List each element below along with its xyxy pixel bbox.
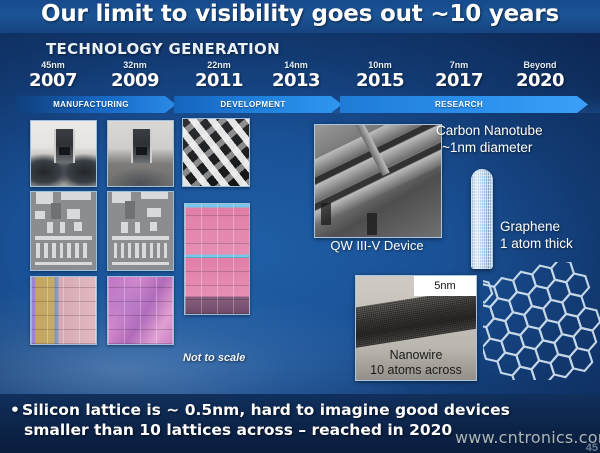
device-contact bbox=[367, 213, 377, 235]
stack-block bbox=[74, 222, 82, 231]
stack-block bbox=[35, 211, 45, 219]
watermark: www.cntronics.com bbox=[455, 428, 600, 447]
page-title: Our limit to visibility goes out ~10 yea… bbox=[0, 1, 600, 27]
stack-finger bbox=[164, 243, 167, 257]
phase-chevron-development: DEVELOPMENT bbox=[174, 96, 342, 113]
node-year-0: 2007 bbox=[14, 71, 92, 91]
timeline-node-0: 45nm 2007 bbox=[14, 60, 92, 91]
stack-finger bbox=[44, 243, 48, 257]
stack-block bbox=[141, 192, 168, 199]
timeline-node-2: 22nm 2011 bbox=[180, 60, 258, 91]
node-year-4: 2015 bbox=[341, 71, 419, 91]
node-year-5: 2017 bbox=[420, 71, 498, 91]
device-contact bbox=[321, 203, 331, 225]
footer-bullet-line1: Silicon lattice is ~ 0.5nm, hard to imag… bbox=[22, 401, 510, 419]
timeline-node-1: 32nm 2009 bbox=[96, 60, 174, 91]
nanowire-caption-line1: Nanowire bbox=[356, 348, 476, 363]
stack-finger bbox=[83, 243, 87, 257]
tile-tem-gate-32nm bbox=[107, 120, 174, 187]
stack-finger bbox=[114, 243, 117, 257]
section-label: TECHNOLOGY GENERATION bbox=[46, 40, 280, 58]
stack-finger bbox=[67, 243, 71, 257]
graphene-lattice-graphic bbox=[483, 262, 600, 380]
phase-band: MANUFACTURING DEVELOPMENT RESEARCH bbox=[0, 96, 600, 113]
timeline-node-4: 10nm 2015 bbox=[341, 60, 419, 91]
stack-via bbox=[125, 201, 135, 218]
node-year-6: 2020 bbox=[501, 71, 579, 91]
stack-via bbox=[51, 203, 61, 219]
hexagon-lattice-svg bbox=[483, 262, 600, 380]
scale-bar-badge: 5nm bbox=[414, 276, 476, 296]
not-to-scale-note: Not to scale bbox=[183, 352, 245, 364]
stack-rail bbox=[35, 262, 92, 265]
carbon-nanotube-graphic bbox=[471, 169, 493, 269]
phase-chevron-research: RESEARCH bbox=[340, 96, 588, 113]
stack-block bbox=[121, 222, 128, 233]
stack-finger bbox=[52, 243, 56, 257]
stack-rail bbox=[35, 236, 92, 240]
nanowire-caption: Nanowire 10 atoms across bbox=[356, 348, 476, 378]
tile-die-micrograph-45nm bbox=[30, 276, 97, 345]
stack-finger bbox=[157, 243, 160, 257]
graphene-label-line2: 1 atom thick bbox=[500, 235, 600, 252]
timeline-node-5: 7nm 2017 bbox=[420, 60, 498, 91]
stack-block bbox=[67, 209, 80, 218]
timeline-node-6: Beyond 2020 bbox=[501, 60, 579, 91]
phase-label-development: DEVELOPMENT bbox=[220, 100, 285, 109]
stack-block bbox=[60, 222, 65, 233]
die-grid-overlay bbox=[185, 204, 249, 314]
tile-metal-stack-45nm bbox=[30, 191, 97, 271]
stack-finger bbox=[142, 243, 145, 257]
carbon-nanotube-label: Carbon Nanotube ~1nm diameter bbox=[436, 122, 600, 156]
gate-stack-shape bbox=[54, 129, 75, 163]
stack-finger bbox=[121, 243, 124, 257]
qw-device-image bbox=[314, 124, 442, 238]
tile-die-shot-22nm bbox=[184, 203, 250, 315]
stack-block bbox=[147, 208, 161, 217]
tile-die-micrograph-32nm bbox=[107, 276, 174, 345]
node-year-2: 2011 bbox=[180, 71, 258, 91]
tile-tem-gate-45nm bbox=[30, 120, 97, 187]
stack-finger bbox=[75, 243, 79, 257]
die-grid-overlay bbox=[31, 277, 96, 344]
graphene-label: Graphene 1 atom thick bbox=[500, 218, 600, 252]
left-image-grid bbox=[0, 118, 300, 358]
timeline-node-3: 14nm 2013 bbox=[257, 60, 335, 91]
nanowire-strand bbox=[355, 288, 477, 348]
stack-block bbox=[61, 192, 91, 200]
node-year-3: 2013 bbox=[257, 71, 335, 91]
die-grid-overlay bbox=[108, 277, 173, 344]
nanowire-image: 5nm Nanowire 10 atoms across bbox=[355, 275, 477, 381]
stack-finger bbox=[128, 243, 131, 257]
cnt-label-line2: ~1nm diameter bbox=[442, 139, 600, 156]
gate-stack-shape bbox=[131, 129, 152, 163]
phase-chevron-manufacturing: MANUFACTURING bbox=[16, 96, 176, 113]
slide-canvas: Our limit to visibility goes out ~10 yea… bbox=[0, 0, 600, 453]
stack-finger bbox=[135, 243, 138, 257]
tile-metal-stack-32nm bbox=[107, 191, 174, 271]
stack-rail bbox=[112, 262, 169, 265]
phase-label-manufacturing: MANUFACTURING bbox=[53, 100, 129, 109]
bullet-marker: • bbox=[10, 400, 22, 420]
timeline-nodes: 45nm 2007 32nm 2009 22nm 2011 14nm 2013 … bbox=[14, 60, 586, 94]
graphene-label-line1: Graphene bbox=[500, 218, 600, 235]
nanowire-caption-line2: 10 atoms across bbox=[356, 363, 476, 378]
stack-finger bbox=[150, 243, 153, 257]
stack-finger bbox=[60, 243, 64, 257]
tile-sem-finfet-22nm bbox=[182, 118, 250, 187]
page-number: 45 bbox=[586, 442, 598, 453]
cnt-label-line1: Carbon Nanotube bbox=[436, 122, 600, 139]
phase-label-research: RESEARCH bbox=[435, 100, 483, 109]
node-year-1: 2009 bbox=[96, 71, 174, 91]
stack-block bbox=[150, 222, 158, 231]
stack-finger bbox=[36, 243, 40, 257]
stack-block bbox=[47, 222, 54, 233]
stack-block bbox=[135, 222, 140, 233]
qw-device-caption: QW III-V Device bbox=[310, 238, 444, 253]
stack-rail bbox=[112, 236, 169, 240]
